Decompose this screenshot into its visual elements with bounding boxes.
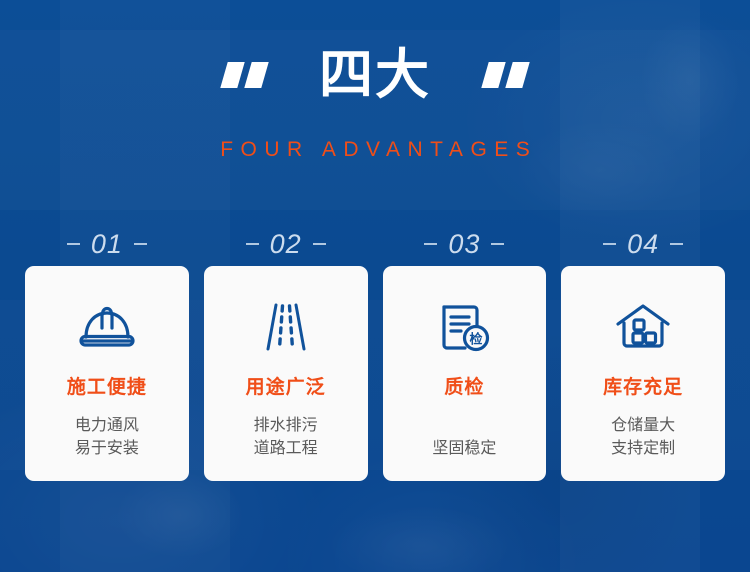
dash-right-icon	[670, 243, 683, 245]
advantage-title-4: 库存充足	[603, 378, 683, 397]
dash-left-icon	[424, 243, 437, 245]
card-number-2: 02	[204, 222, 368, 266]
advantage-column-4: 04 库存充足 仓储量大 支持定制	[561, 222, 725, 481]
card-number-1: 01	[25, 222, 189, 266]
card-number-3: 03	[383, 222, 547, 266]
desc-line: 坚固稳定	[432, 437, 496, 460]
advantage-column-3: 03 检 质检 坚固稳定	[383, 222, 547, 481]
card-number-label: 03	[448, 229, 480, 260]
road-icon	[258, 296, 314, 358]
advantage-column-2: 02 用途广泛 排水排污 道路工程	[204, 222, 368, 481]
title-row: 四大	[0, 38, 750, 112]
card-number-label: 01	[91, 229, 123, 260]
card-number-label: 02	[270, 229, 302, 260]
desc-line: 排水排污	[254, 414, 318, 437]
advantage-card-1[interactable]: 施工便捷 电力通风 易于安装	[25, 266, 189, 481]
close-quote-mark-icon	[485, 62, 526, 88]
dash-left-icon	[67, 243, 80, 245]
card-number-label: 04	[627, 229, 659, 260]
advantages-banner: 四大 FOUR ADVANTAGES 01	[0, 0, 750, 572]
advantage-title-3: 质检	[444, 378, 484, 397]
desc-line: 支持定制	[611, 437, 675, 460]
header: 四大 FOUR ADVANTAGES	[0, 38, 750, 162]
page-title: 四大	[319, 48, 431, 102]
desc-line: 道路工程	[254, 437, 318, 460]
hard-hat-icon	[76, 296, 138, 358]
advantage-title-1: 施工便捷	[67, 378, 147, 397]
dash-right-icon	[313, 243, 326, 245]
warehouse-icon	[614, 296, 672, 358]
open-quote-mark-icon	[224, 62, 265, 88]
dash-right-icon	[134, 243, 147, 245]
page-subtitle: FOUR ADVANTAGES	[0, 138, 750, 162]
advantage-card-3[interactable]: 检 质检 坚固稳定	[383, 266, 547, 481]
desc-line: 电力通风	[75, 414, 139, 437]
advantage-title-2: 用途广泛	[246, 378, 326, 397]
desc-line: 仓储量大	[611, 414, 675, 437]
advantage-card-grid: 01 施工便捷 电力通风 易于安装	[25, 222, 725, 481]
dash-right-icon	[491, 243, 504, 245]
advantage-desc-2: 排水排污 道路工程	[254, 414, 318, 460]
dash-left-icon	[246, 243, 259, 245]
advantage-desc-3: 坚固稳定	[432, 437, 496, 460]
advantage-column-1: 01 施工便捷 电力通风 易于安装	[25, 222, 189, 481]
advantage-desc-1: 电力通风 易于安装	[75, 414, 139, 460]
advantage-card-4[interactable]: 库存充足 仓储量大 支持定制	[561, 266, 725, 481]
dash-left-icon	[603, 243, 616, 245]
advantage-card-2[interactable]: 用途广泛 排水排污 道路工程	[204, 266, 368, 481]
card-number-4: 04	[561, 222, 725, 266]
svg-text:检: 检	[470, 332, 483, 347]
advantage-desc-4: 仓储量大 支持定制	[611, 414, 675, 460]
desc-line: 易于安装	[75, 437, 139, 460]
inspection-document-icon: 检	[436, 296, 492, 358]
